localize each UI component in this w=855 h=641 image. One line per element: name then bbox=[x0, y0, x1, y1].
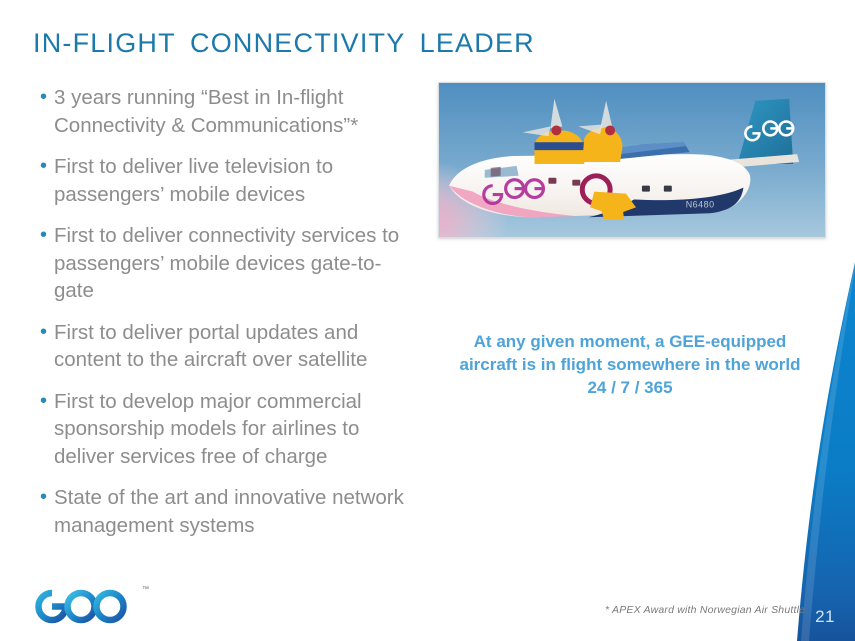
gee-branded-seaplane-photo: N6480 bbox=[438, 82, 826, 238]
list-item: • First to deliver connectivity services… bbox=[36, 222, 416, 305]
list-item-label: First to deliver live television to pass… bbox=[54, 153, 416, 208]
swoosh-shape bbox=[783, 262, 855, 641]
list-item-label: First to deliver connectivity services t… bbox=[54, 222, 416, 305]
list-item-label: First to develop major commercial sponso… bbox=[54, 388, 416, 471]
footnote: * APEX Award with Norwegian Air Shuttle bbox=[605, 604, 805, 616]
caption-line-1: At any given moment, a GEE-equipped bbox=[430, 330, 830, 353]
list-item: • First to deliver live television to pa… bbox=[36, 153, 416, 208]
gee-logo-icon bbox=[22, 583, 152, 629]
bullet-marker-icon: • bbox=[36, 153, 54, 180]
bullet-marker-icon: • bbox=[36, 484, 54, 511]
list-item-label: State of the art and innovative network … bbox=[54, 484, 416, 539]
bullet-marker-icon: • bbox=[36, 84, 54, 111]
list-item: • First to develop major commercial spon… bbox=[36, 388, 416, 471]
list-item-label: 3 years running “Best in In-flight Conne… bbox=[54, 84, 416, 139]
page-title: IN-FLIGHT CONNECTIVITY LEADER bbox=[33, 28, 535, 59]
gee-logo: ™ bbox=[22, 583, 152, 629]
seaplane-illustration: N6480 bbox=[439, 83, 825, 237]
caption-line-2: aircraft is in flight somewhere in the w… bbox=[430, 353, 830, 376]
list-item: • 3 years running “Best in In-flight Con… bbox=[36, 84, 416, 139]
list-item-label: First to deliver portal updates and cont… bbox=[54, 319, 416, 374]
bullet-marker-icon: • bbox=[36, 319, 54, 346]
bullet-marker-icon: • bbox=[36, 388, 54, 415]
page-number: 21 bbox=[815, 607, 835, 627]
list-item: • First to deliver portal updates and co… bbox=[36, 319, 416, 374]
list-item: • State of the art and innovative networ… bbox=[36, 484, 416, 539]
caption-line-3: 24 / 7 / 365 bbox=[430, 376, 830, 399]
svg-text:N6480: N6480 bbox=[686, 199, 715, 209]
photo-caption: At any given moment, a GEE-equipped airc… bbox=[430, 330, 830, 399]
decorative-swoosh bbox=[783, 262, 855, 641]
bullet-marker-icon: • bbox=[36, 222, 54, 249]
bullet-list: • 3 years running “Best in In-flight Con… bbox=[36, 84, 416, 553]
slide: IN-FLIGHT CONNECTIVITY LEADER • 3 years … bbox=[0, 0, 855, 641]
trademark-symbol: ™ bbox=[142, 586, 149, 593]
